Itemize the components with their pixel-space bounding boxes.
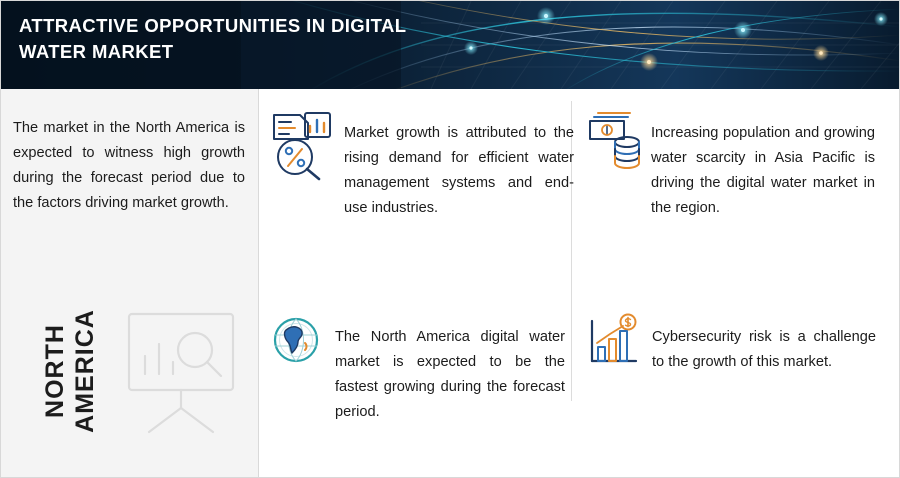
insight-cell-3: The North America digital water market i… xyxy=(269,313,564,433)
left-region-panel: The market in the North America is expec… xyxy=(1,89,259,478)
page-title: ATTRACTIVE OPPORTUNITIES IN DIGITAL WATE… xyxy=(19,13,449,65)
insight-cell-4-text: Cybersecurity risk is a challenge to the… xyxy=(652,325,876,375)
insight-cell-2-text: Increasing population and growing water … xyxy=(651,121,875,221)
insight-cell-4: Cybersecurity risk is a challenge to the… xyxy=(586,313,886,433)
infographic-page: ATTRACTIVE OPPORTUNITIES IN DIGITAL WATE… xyxy=(0,0,900,478)
insight-cell-1: Market growth is attributed to the risin… xyxy=(269,109,564,229)
bar-chart-growth-dollar-icon xyxy=(586,313,642,376)
document-bar-chart-percent-search-icon xyxy=(269,109,333,186)
region-label-text: NORTH AMERICA xyxy=(40,276,100,466)
header-banner: ATTRACTIVE OPPORTUNITIES IN DIGITAL WATE… xyxy=(1,1,900,89)
presentation-chart-magnifier-icon xyxy=(121,304,241,444)
globe-africa-icon xyxy=(269,313,323,372)
insight-cell-1-text: Market growth is attributed to the risin… xyxy=(344,121,574,221)
insight-cell-2: Increasing population and growing water … xyxy=(586,109,886,229)
insight-cell-3-text: The North America digital water market i… xyxy=(335,325,565,425)
left-panel-paragraph: The market in the North America is expec… xyxy=(13,116,245,216)
money-coins-dollar-icon xyxy=(586,109,642,176)
